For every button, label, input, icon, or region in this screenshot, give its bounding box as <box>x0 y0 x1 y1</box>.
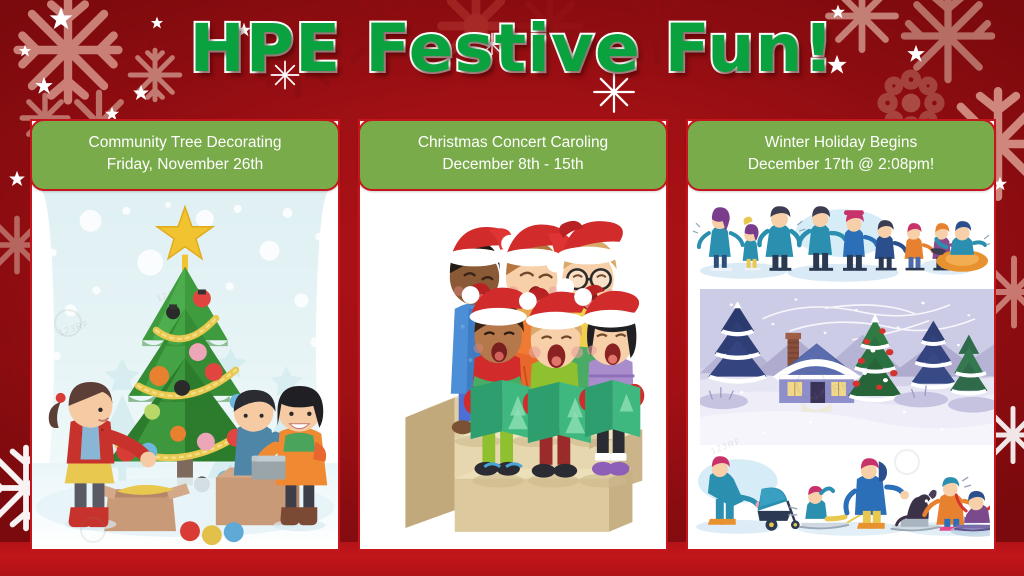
card-heading-line2: December 17th @ 2:08pm! <box>696 154 986 176</box>
card-illustration-tree-decorating: 123RF 123RF 123RF <box>32 191 338 549</box>
star-icon <box>8 170 26 188</box>
card-illustration-winter-activities: 123RF <box>688 191 994 549</box>
snowy-cabin-landscape <box>700 289 994 445</box>
card-heading-line2: December 8th - 15th <box>368 154 658 176</box>
festive-slide: HPE Festive Fun! Community Tree Decorati… <box>0 0 1024 576</box>
event-card-winter-holiday[interactable]: Winter Holiday Begins December 17th @ 2:… <box>686 119 996 551</box>
panel-sledding <box>692 445 990 545</box>
card-header: Community Tree Decorating Friday, Novemb… <box>30 119 340 191</box>
panel-ice-skating <box>692 197 990 289</box>
card-illustration-carolers <box>360 191 666 549</box>
card-heading-line1: Community Tree Decorating <box>89 134 282 151</box>
event-card-tree-decorating[interactable]: Community Tree Decorating Friday, Novemb… <box>30 119 340 551</box>
card-heading-line1: Christmas Concert Caroling <box>418 134 608 151</box>
card-heading-line2: Friday, November 26th <box>40 154 330 176</box>
carolers-illustration <box>360 191 666 549</box>
event-cards: Community Tree Decorating Friday, Novemb… <box>30 119 996 551</box>
panel-winter-landscape: 123RF <box>700 289 994 445</box>
tree-decorating-illustration <box>32 191 338 549</box>
card-header: Winter Holiday Begins December 17th @ 2:… <box>686 119 996 191</box>
card-header: Christmas Concert Caroling December 8th … <box>358 119 668 191</box>
star-icon <box>132 84 150 102</box>
card-heading-line1: Winter Holiday Begins <box>765 134 917 151</box>
event-card-christmas-caroling[interactable]: Christmas Concert Caroling December 8th … <box>358 119 668 551</box>
page-title: HPE Festive Fun! <box>0 16 1024 82</box>
